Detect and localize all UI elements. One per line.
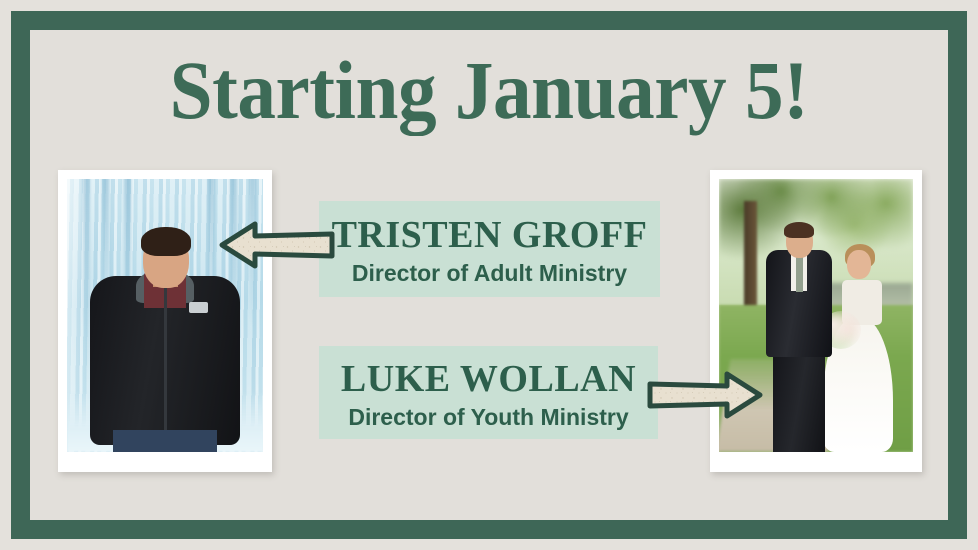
jacket-zipper bbox=[164, 288, 167, 430]
page-title: Starting January 5! bbox=[34, 44, 944, 136]
arrow-left-icon bbox=[219, 218, 335, 272]
photo-card-tristen bbox=[58, 170, 272, 472]
staff-label-tristen: TRISTEN GROFF Director of Adult Ministry bbox=[319, 201, 660, 297]
staff-label-luke: LUKE WOLLAN Director of Youth Ministry bbox=[319, 346, 658, 439]
staff-name: TRISTEN GROFF bbox=[319, 213, 660, 257]
staff-role: Director of Adult Ministry bbox=[319, 257, 660, 289]
staff-name: LUKE WOLLAN bbox=[319, 357, 658, 401]
jacket-logo bbox=[189, 302, 208, 313]
hair bbox=[784, 222, 814, 238]
hair bbox=[141, 227, 191, 256]
announcement-slide: Starting January 5! bbox=[0, 0, 978, 550]
staff-role: Director of Youth Ministry bbox=[319, 401, 658, 433]
necktie bbox=[796, 257, 803, 292]
suit-trousers bbox=[773, 352, 825, 452]
jeans bbox=[113, 430, 217, 452]
groom-figure bbox=[766, 220, 832, 452]
arrow-right-icon bbox=[647, 368, 763, 422]
photo-card-luke bbox=[710, 170, 922, 472]
head bbox=[847, 250, 871, 279]
